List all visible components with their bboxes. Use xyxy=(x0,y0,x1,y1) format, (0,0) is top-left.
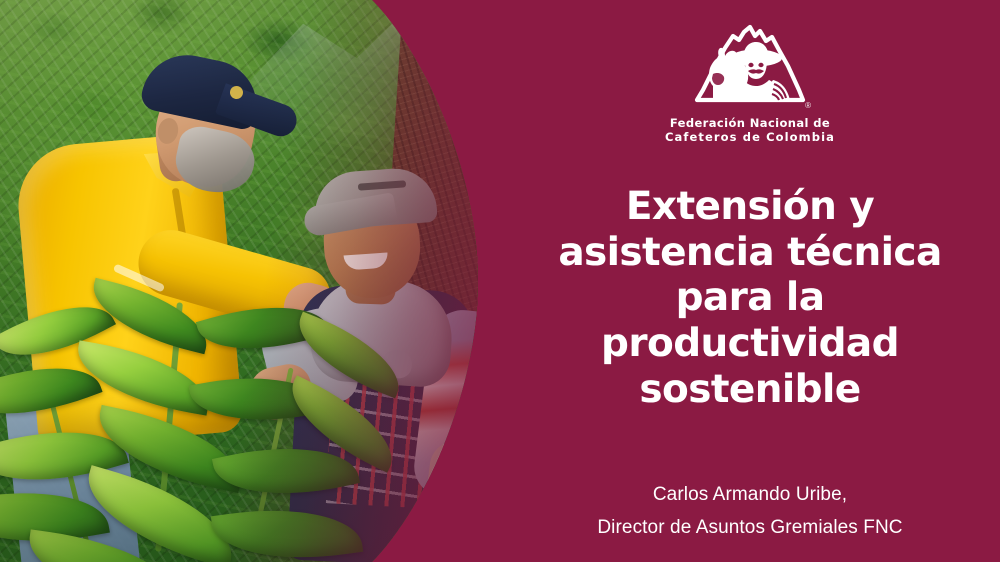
speaker-role: Director de Asuntos Gremiales FNC xyxy=(500,511,1000,544)
title-line-2: asistencia técnica xyxy=(500,230,1000,276)
presentation-slide: ® Federación Nacional de Cafeteros de Co… xyxy=(0,0,1000,562)
title-line-4: productividad xyxy=(500,321,1000,367)
fnc-wordmark: Federación Nacional de Cafeteros de Colo… xyxy=(665,117,835,144)
speaker-attribution: Carlos Armando Uribe, Director de Asunto… xyxy=(500,478,1000,545)
slide-content-column: ® Federación Nacional de Cafeteros de Co… xyxy=(500,0,1000,562)
juan-valdez-mountain-mule-icon: ® xyxy=(691,24,809,114)
fnc-wordmark-line1: Federación Nacional de xyxy=(665,117,835,131)
photo-canvas xyxy=(0,0,480,562)
speaker-name: Carlos Armando Uribe, xyxy=(500,478,1000,511)
fnc-logo: ® Federación Nacional de Cafeteros de Co… xyxy=(500,24,1000,144)
foreground-coffee-branch xyxy=(0,288,400,562)
title-line-1: Extensión y xyxy=(500,184,1000,230)
slide-title: Extensión y asistencia técnica para la p… xyxy=(500,184,1000,412)
fnc-wordmark-line2: Cafeteros de Colombia xyxy=(665,131,835,145)
title-line-5: sostenible xyxy=(500,367,1000,413)
coffee-leaf xyxy=(211,496,363,562)
coffee-farm-photo xyxy=(0,0,480,562)
registered-trademark-icon: ® xyxy=(805,102,811,110)
title-line-3: para la xyxy=(500,275,1000,321)
